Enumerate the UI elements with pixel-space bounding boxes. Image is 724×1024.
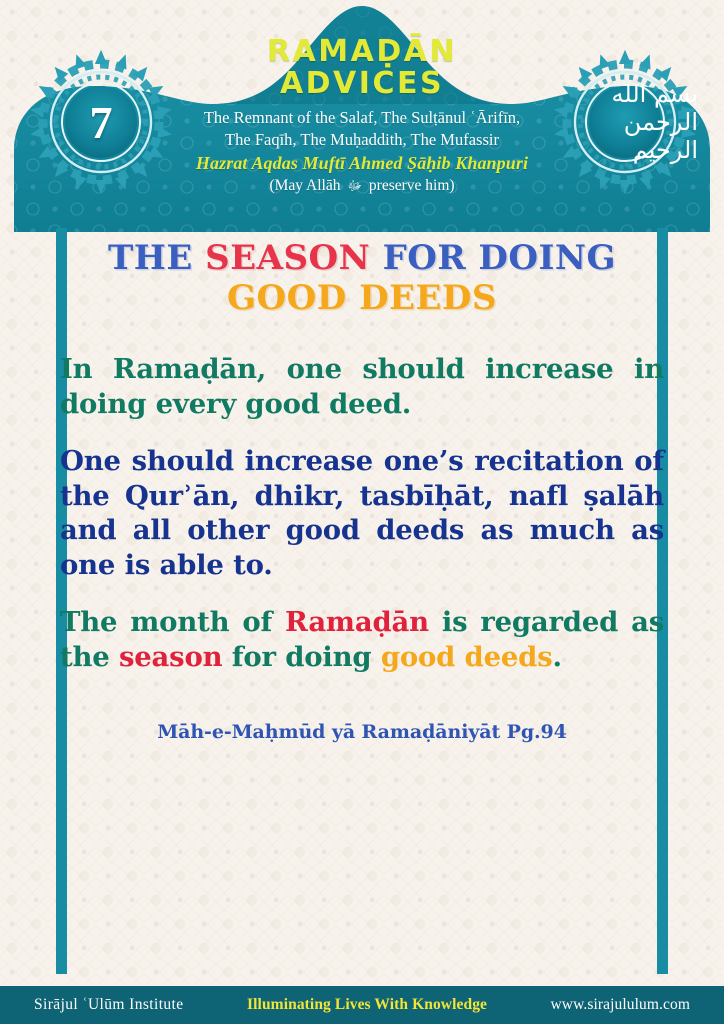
advice-paragraphs: In Ramaḍān, one should increase in doing… xyxy=(54,352,670,675)
footer-bar: Sirājul ʿUlūm Institute Illuminating Liv… xyxy=(0,986,724,1024)
page-title: THE SEASON FOR DOING GOOD DEEDS xyxy=(54,240,670,318)
header-text-block: RAMAḌĀN ADVICES The Remnant of the Salaf… xyxy=(160,36,564,197)
source-citation: Māh-e-Maḥmūd yā Ramaḍāniyāt Pg.94 xyxy=(54,721,670,743)
allah-honorific-glyph: ﷻ xyxy=(344,178,365,193)
dua-after: preserve him) xyxy=(369,177,455,194)
title-word-season: SEASON xyxy=(205,238,382,278)
text-segment: good deeds xyxy=(381,641,553,673)
footer-website-url[interactable]: www.sirajululum.com xyxy=(550,996,690,1014)
scholar-titles-line1: The Remnant of the Salaf, The Sulṭānul ʿ… xyxy=(160,107,564,129)
para-1: In Ramaḍān, one should increase in doing… xyxy=(54,352,670,422)
dua-line: (May Allāh ﷻ preserve him) xyxy=(160,175,564,197)
title-words-for-doing: FOR DOING xyxy=(383,238,616,278)
text-segment: . xyxy=(552,641,561,673)
text-segment: In Ramaḍān, one should increase in doing… xyxy=(60,353,664,420)
text-segment: Ramaḍān xyxy=(285,606,429,638)
text-segment: for doing xyxy=(222,641,380,673)
para-3: The month of Ramaḍān is regarded as the … xyxy=(54,605,670,675)
poster-root: RAMAḌĀN ADVICES The Remnant of the Salaf… xyxy=(0,0,724,1024)
advice-number-medallion: 7 xyxy=(28,46,174,198)
text-segment: One should increase one’s recitation of … xyxy=(60,445,664,582)
mandala-ornament-icon xyxy=(552,46,698,198)
scholar-titles-line2: The Faqīh, The Muḥaddith, The Mufassir xyxy=(160,129,564,151)
para-2: One should increase one’s recitation of … xyxy=(54,444,670,584)
page-title-line1: THE SEASON FOR DOING xyxy=(54,240,670,277)
text-segment: The month of xyxy=(60,606,285,638)
brand-title-line1: RAMAḌĀN xyxy=(160,36,564,67)
main-content: THE SEASON FOR DOING GOOD DEEDS In Ramaḍ… xyxy=(54,240,670,743)
footer-tagline: Illuminating Lives With Knowledge xyxy=(247,996,487,1014)
basmala-medallion: بسم الله الرحمن الرحيم xyxy=(552,46,698,198)
text-segment: season xyxy=(119,641,222,673)
dua-before: (May Allāh xyxy=(269,177,340,194)
mandala-ornament-icon xyxy=(28,46,174,198)
scholar-name: Hazrat Aqdas Muftī Ahmed Ṣāḥib Khanpuri xyxy=(160,151,564,175)
title-word-the: THE xyxy=(108,238,205,278)
brand-title-line2: ADVICES xyxy=(160,67,564,101)
footer-institute-name: Sirājul ʿUlūm Institute xyxy=(34,996,184,1014)
page-title-line2: GOOD DEEDS xyxy=(54,280,670,317)
